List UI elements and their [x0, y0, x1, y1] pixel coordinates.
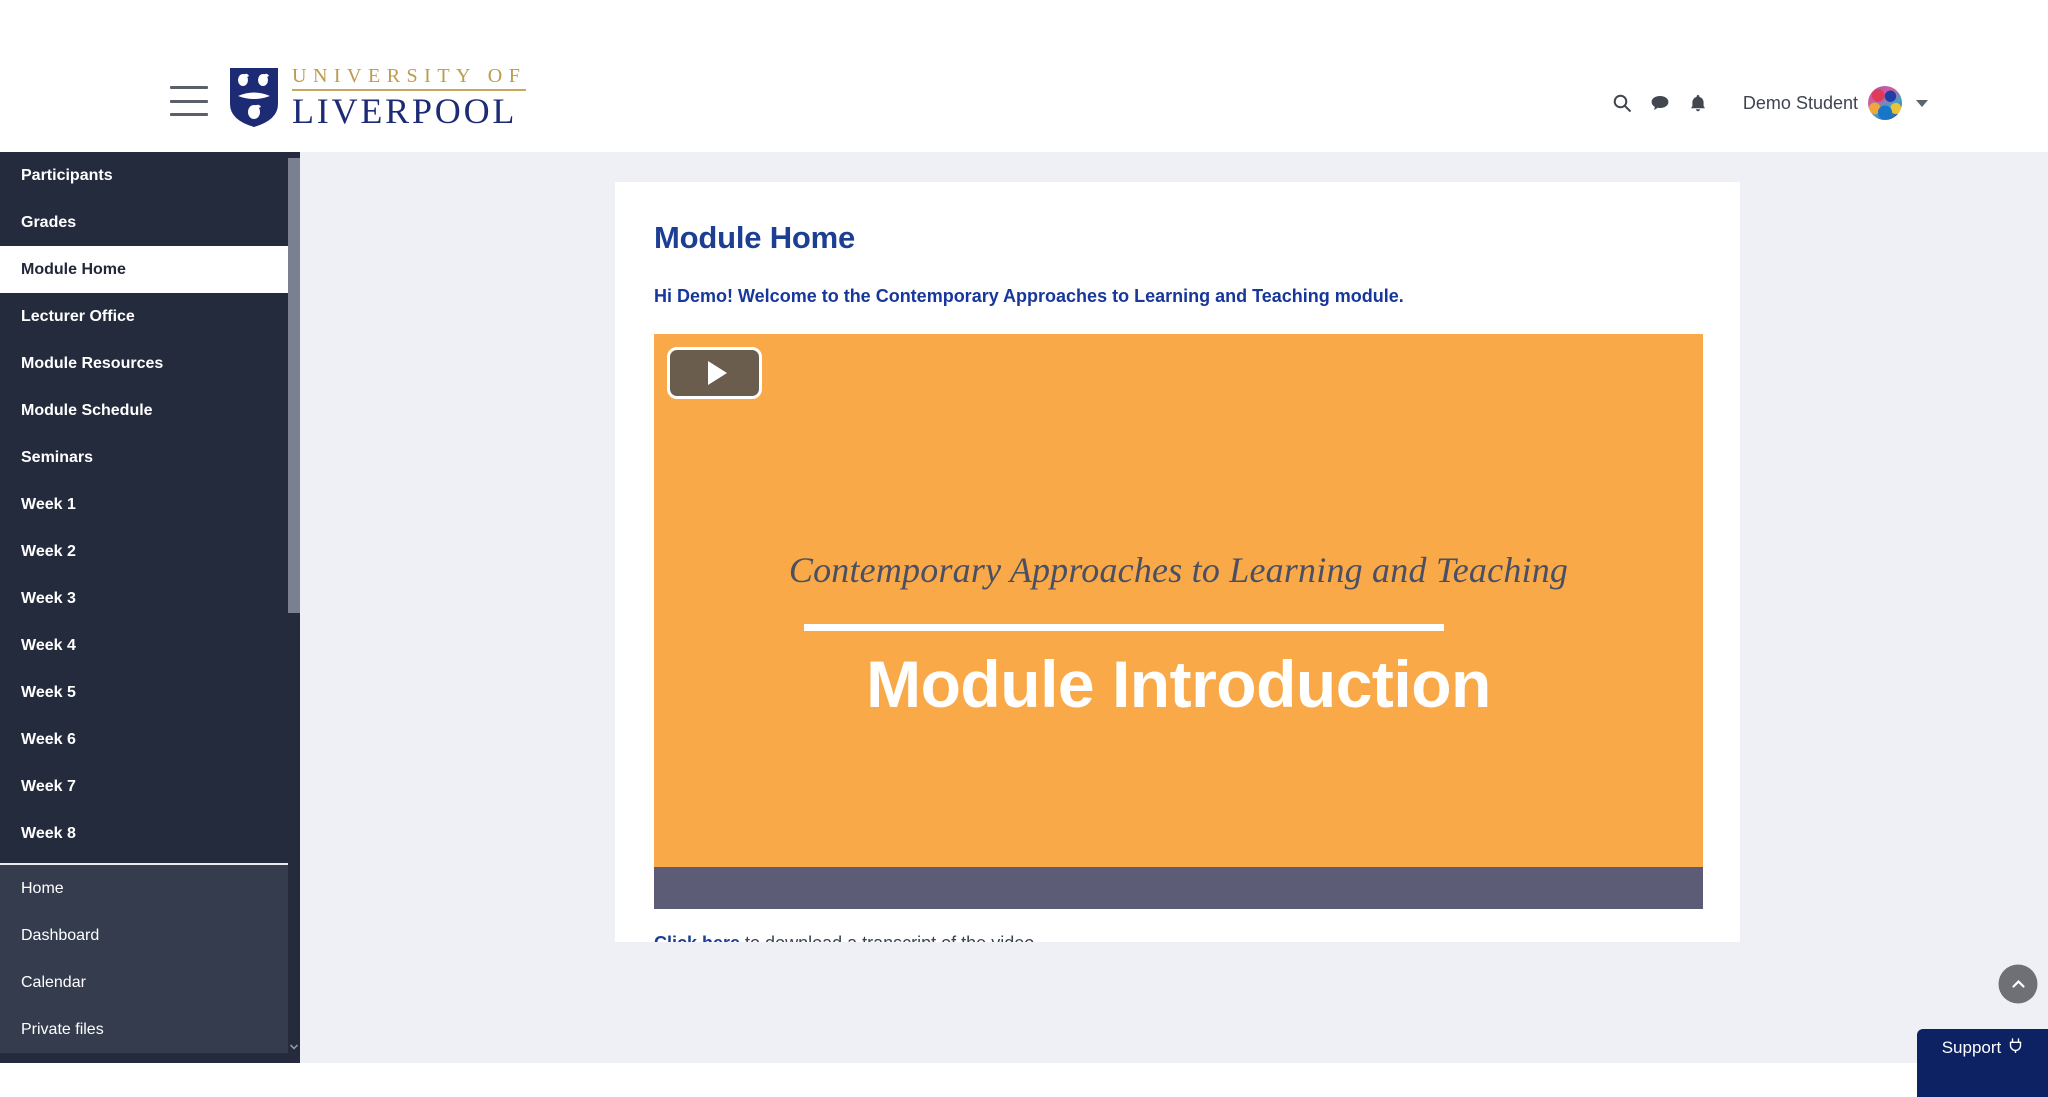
chevron-down-icon[interactable] — [1916, 100, 1928, 107]
sidebar-item-module-home[interactable]: Module Home — [0, 246, 288, 293]
sidebar-item-week-4[interactable]: Week 4 — [0, 622, 288, 669]
notification-bell-icon[interactable] — [1679, 88, 1717, 118]
transcript-rest-text: to download a transcript of the video. — [740, 933, 1039, 942]
support-label: Support — [1942, 1038, 2002, 1058]
course-navigation-drawer: Participants Grades Module Home Lecturer… — [0, 152, 288, 1063]
video-slide-rule — [804, 624, 1444, 631]
sidebar-item-seminars[interactable]: Seminars — [0, 434, 288, 481]
sidebar-item-dashboard[interactable]: Dashboard — [0, 912, 288, 959]
play-triangle — [708, 361, 727, 385]
logo-wordmark: UNIVERSITY OF LIVERPOOL — [292, 64, 526, 130]
header-actions: Demo Student — [1603, 86, 1928, 120]
transcript-line: Click here to download a transcript of t… — [654, 933, 1700, 942]
sidebar-item-week-5[interactable]: Week 5 — [0, 669, 288, 716]
university-crest-shield-icon — [228, 66, 280, 128]
chevron-up-icon — [2009, 975, 2027, 993]
sidebar-scrollbar[interactable] — [288, 152, 300, 1063]
search-icon[interactable] — [1603, 88, 1641, 118]
nav-section-site: Home Dashboard Calendar Private files — [0, 865, 288, 1053]
site-header: UNIVERSITY OF LIVERPOOL Demo Student — [0, 0, 2048, 152]
sidebar-item-week-2[interactable]: Week 2 — [0, 528, 288, 575]
sidebar-item-home[interactable]: Home — [0, 865, 288, 912]
sidebar-item-week-7[interactable]: Week 7 — [0, 763, 288, 810]
play-button-icon[interactable] — [667, 347, 762, 399]
message-icon[interactable] — [1641, 88, 1679, 118]
sidebar-item-week-1[interactable]: Week 1 — [0, 481, 288, 528]
video-slide-title: Module Introduction — [654, 646, 1703, 722]
sidebar-item-private-files[interactable]: Private files — [0, 1006, 288, 1053]
support-button[interactable]: Support — [1917, 1029, 2048, 1097]
scroll-to-top-button[interactable] — [1999, 965, 2038, 1004]
sidebar-item-module-schedule[interactable]: Module Schedule — [0, 387, 288, 434]
transcript-download-link[interactable]: Click here — [654, 933, 740, 942]
support-plug-icon — [2008, 1038, 2023, 1053]
site-logo[interactable]: UNIVERSITY OF LIVERPOOL — [228, 64, 526, 130]
video-player[interactable]: Contemporary Approaches to Learning and … — [654, 334, 1703, 909]
logo-line-2: LIVERPOOL — [292, 92, 526, 130]
logo-line-1: UNIVERSITY OF — [292, 64, 526, 88]
sidebar-item-participants[interactable]: Participants — [0, 152, 288, 199]
burger-line — [170, 100, 208, 103]
video-progress-bar[interactable] — [654, 867, 1703, 909]
video-slide-subtitle: Contemporary Approaches to Learning and … — [654, 549, 1703, 591]
hamburger-menu-icon[interactable] — [170, 86, 208, 116]
user-name[interactable]: Demo Student — [1743, 93, 1858, 114]
scrollbar-thumb[interactable] — [288, 158, 300, 613]
sidebar-item-week-8[interactable]: Week 8 — [0, 810, 288, 857]
page-title: Module Home — [654, 220, 1700, 256]
nav-section-course: Participants Grades Module Home Lecturer… — [0, 152, 288, 857]
burger-line — [170, 86, 208, 89]
sidebar-item-calendar[interactable]: Calendar — [0, 959, 288, 1006]
sidebar-item-week-3[interactable]: Week 3 — [0, 575, 288, 622]
avatar[interactable] — [1868, 86, 1902, 120]
sidebar-item-week-6[interactable]: Week 6 — [0, 716, 288, 763]
main-content-card: Module Home Hi Demo! Welcome to the Cont… — [615, 182, 1740, 942]
burger-line — [170, 113, 208, 116]
sidebar-item-lecturer-office[interactable]: Lecturer Office — [0, 293, 288, 340]
chevron-down-icon[interactable] — [288, 1037, 300, 1057]
sidebar-item-grades[interactable]: Grades — [0, 199, 288, 246]
welcome-message: Hi Demo! Welcome to the Contemporary App… — [654, 286, 1700, 307]
sidebar-item-module-resources[interactable]: Module Resources — [0, 340, 288, 387]
